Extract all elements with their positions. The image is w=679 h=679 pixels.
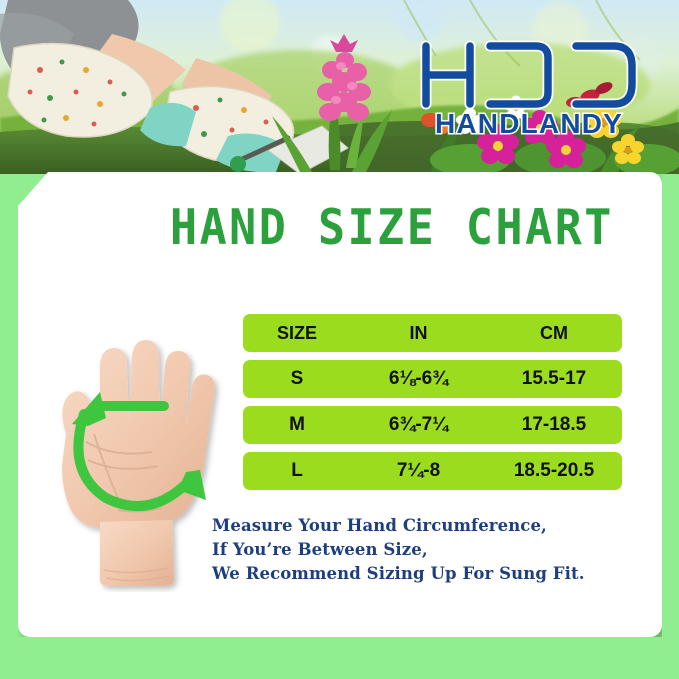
cell-cm: 17-18.5 (486, 414, 622, 436)
header-in: IN (351, 323, 486, 344)
sizing-note-line-2: If You’re Between Size, (212, 538, 632, 562)
logo-wordmark: HANDLANDY (435, 108, 623, 139)
page-title: HAND SIZE CHART (170, 203, 650, 252)
cell-in: 6⅛-6¾ (351, 368, 486, 390)
size-table: SIZE IN CM S 6⅛-6¾ 15.5-17 M 6¾-7¼ 17-18… (243, 314, 622, 498)
cell-size: M (243, 414, 351, 436)
cell-in: 7¼-8 (351, 460, 486, 482)
cell-size: S (243, 368, 351, 390)
cell-cm: 15.5-17 (486, 368, 622, 390)
logo-artwork: HANDLANDY (418, 40, 640, 140)
hand-circumference-illustration (22, 322, 222, 592)
sizing-note-line-3: We Recommend Sizing Up For Sung Fit. (212, 562, 632, 586)
table-row: L 7¼-8 18.5-20.5 (243, 452, 622, 490)
brand-logo: HANDLANDY (418, 40, 640, 140)
sizing-note: Measure Your Hand Circumference, If You’… (212, 514, 632, 586)
table-row: M 6¾-7¼ 17-18.5 (243, 406, 622, 444)
header-size: SIZE (243, 323, 351, 344)
cell-size: L (243, 460, 351, 482)
hand-artwork (22, 322, 222, 592)
table-header-row: SIZE IN CM (243, 314, 622, 352)
header-cm: CM (486, 323, 622, 344)
cell-cm: 18.5-20.5 (486, 460, 622, 482)
cell-in: 6¾-7¼ (351, 414, 486, 436)
table-row: S 6⅛-6¾ 15.5-17 (243, 360, 622, 398)
logo-monogram-fill (426, 46, 632, 104)
sizing-note-line-1: Measure Your Hand Circumference, (212, 514, 632, 538)
